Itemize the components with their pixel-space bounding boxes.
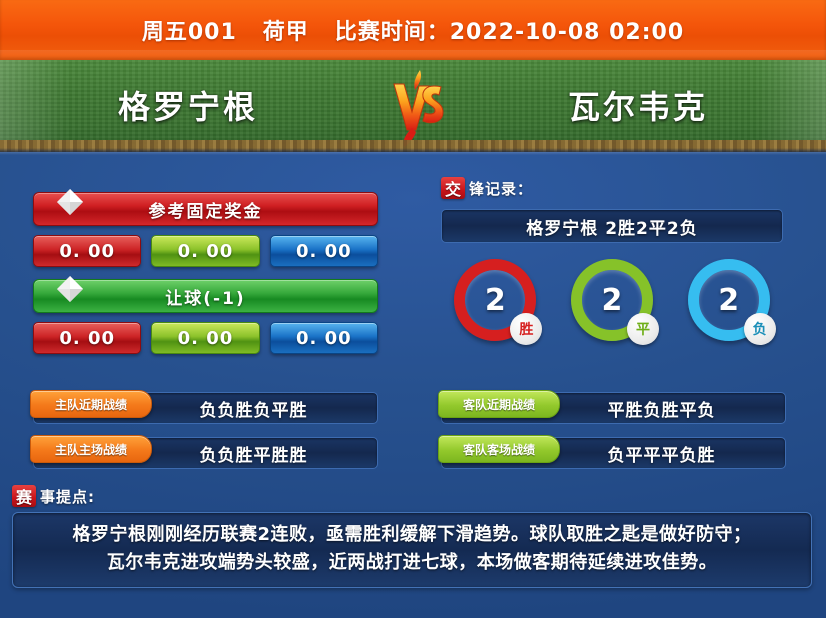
tips-badge-icon: 赛 [12, 485, 36, 507]
odds-draw-1[interactable]: 0. 00 [151, 235, 259, 267]
away-team-name: 瓦尔韦克 [568, 82, 708, 128]
odds-title-bar: 参考固定奖金 [33, 192, 378, 226]
h2h-title-text: 锋记录： [469, 178, 533, 199]
diamond-icon [52, 272, 88, 308]
main-panel: 参考固定奖金 0. 00 0. 00 0. 00 [0, 152, 826, 618]
away-away-record-tag: 客队客场战绩 [438, 435, 560, 463]
banner-shade-right [756, 60, 826, 152]
odds-home-win-1[interactable]: 0. 00 [33, 235, 141, 267]
win-label-badge: 胜 [510, 313, 542, 345]
away-away-record-row: 客队客场战绩 负平平平负胜 [441, 437, 786, 469]
h2h-section-title: 交 锋记录： [441, 177, 533, 199]
h2h-badge-icon: 交 [441, 177, 465, 199]
match-preview-card: 周五001 荷甲 比赛时间：2022-10-08 02:00 格罗宁根 瓦尔韦克 [0, 0, 826, 618]
home-recent-record-tag: 主队近期战绩 [30, 390, 152, 418]
home-team-name: 格罗宁根 [118, 82, 258, 128]
home-home-record-row: 主队主场战绩 负负胜平胜胜 [33, 437, 378, 469]
tips-line-2: 瓦尔韦克进攻端势头较盛，近两战打进七球，本场做客期待延续进攻佳势。 [23, 549, 801, 577]
home-home-record-tag: 主队主场战绩 [30, 435, 152, 463]
header-title: 周五001 荷甲 比赛时间：2022-10-08 02:00 [142, 14, 684, 46]
h2h-rings: 2 胜 2 平 2 负 [437, 259, 787, 341]
banner-dirt-strip [0, 140, 826, 152]
header-bar: 周五001 荷甲 比赛时间：2022-10-08 02:00 [0, 0, 826, 60]
tips-line-1: 格罗宁根刚刚经历联赛2连败，亟需胜利缓解下滑趋势。球队取胜之匙是做好防守； [23, 521, 801, 549]
handicap-title-text: 让球(-1) [165, 284, 245, 309]
h2h-summary: 格罗宁根 2胜2平2负 [441, 209, 783, 243]
odds-title-text: 参考固定奖金 [149, 197, 263, 222]
tips-title-text: 事提点: [40, 486, 95, 507]
h2h-loss-ring: 2 负 [688, 259, 770, 341]
tips-section: 赛 事提点: 格罗宁根刚刚经历联赛2连败，亟需胜利缓解下滑趋势。球队取胜之匙是做… [12, 485, 812, 588]
odds-draw-2[interactable]: 0. 00 [151, 322, 259, 354]
tips-body: 格罗宁根刚刚经历联赛2连败，亟需胜利缓解下滑趋势。球队取胜之匙是做好防守； 瓦尔… [12, 512, 812, 588]
away-recent-record-row: 客队近期战绩 平胜负胜平负 [441, 392, 786, 424]
banner-shade-left [0, 60, 70, 152]
odds-home-win-2[interactable]: 0. 00 [33, 322, 141, 354]
home-recent-record-row: 主队近期战绩 负负胜负平胜 [33, 392, 378, 424]
teams-banner: 格罗宁根 瓦尔韦克 [0, 60, 826, 152]
loss-label-badge: 负 [744, 313, 776, 345]
tips-section-title: 赛 事提点: [12, 485, 812, 507]
diamond-icon [52, 185, 88, 221]
odds-row-1: 0. 00 0. 00 0. 00 [33, 235, 378, 267]
h2h-draw-ring: 2 平 [571, 259, 653, 341]
odds-away-win-1[interactable]: 0. 00 [270, 235, 378, 267]
vs-icon [382, 68, 452, 150]
odds-row-2: 0. 00 0. 00 0. 00 [33, 322, 378, 354]
handicap-title-bar: 让球(-1) [33, 279, 378, 313]
away-recent-record-tag: 客队近期战绩 [438, 390, 560, 418]
draw-label-badge: 平 [627, 313, 659, 345]
odds-away-win-2[interactable]: 0. 00 [270, 322, 378, 354]
h2h-win-ring: 2 胜 [454, 259, 536, 341]
